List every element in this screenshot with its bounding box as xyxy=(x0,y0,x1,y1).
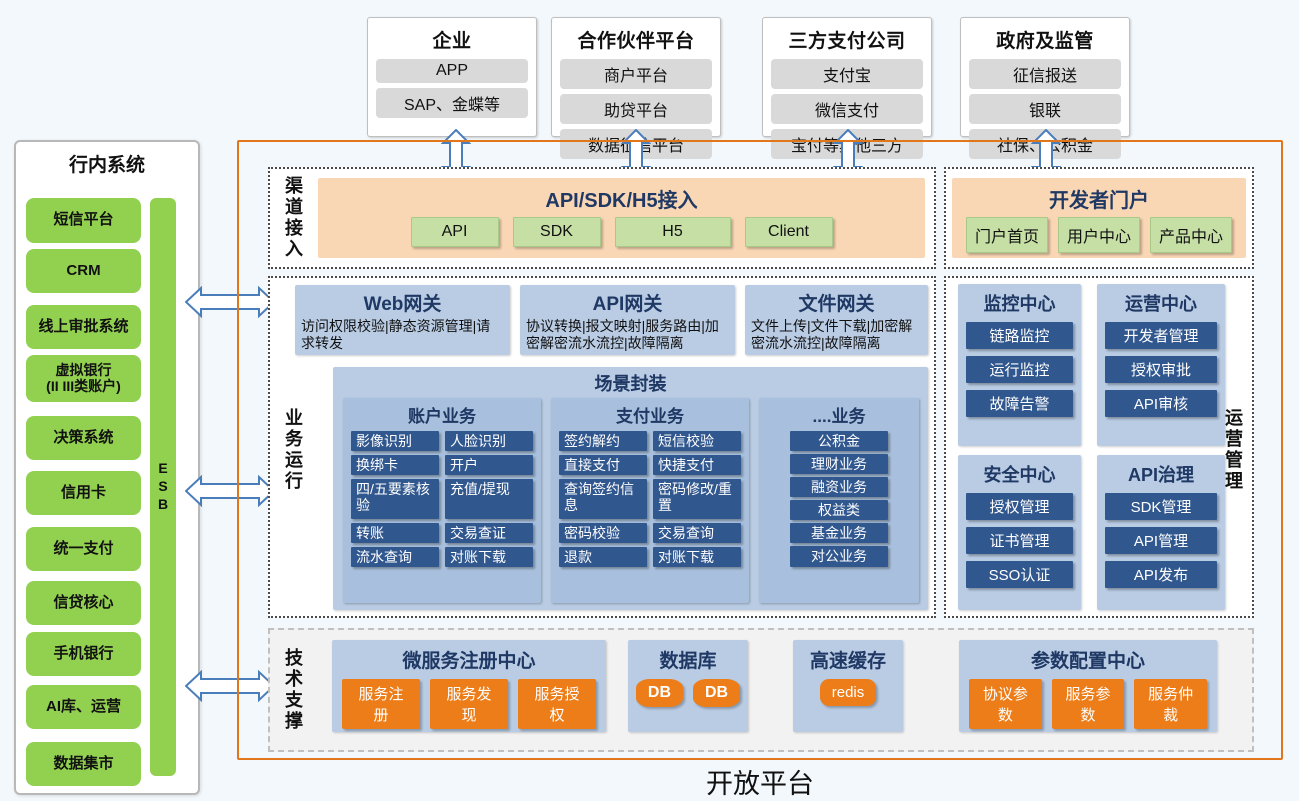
biz-item-reconciliation-download[interactable]: 对账下载 xyxy=(445,547,533,567)
biz-item-reconciliation-download[interactable]: 对账下载 xyxy=(653,547,741,567)
ops-item-api-management[interactable]: API管理 xyxy=(1105,527,1217,554)
tech-item-service-arbitration[interactable]: 服务仲裁 xyxy=(1134,679,1207,729)
bank-system-crm[interactable]: CRM xyxy=(26,249,141,293)
actor-title: 合作伙伴平台 xyxy=(577,26,694,53)
bank-system-ai-library-ops[interactable]: AI库、运营 xyxy=(26,685,141,729)
technical-support-label: 技术支撑 xyxy=(278,640,308,740)
bank-system-credit-card[interactable]: 信用卡 xyxy=(26,471,141,515)
ops-item-fault-alert[interactable]: 故障告警 xyxy=(966,390,1073,417)
tech-item-db-primary[interactable]: DB xyxy=(636,679,683,707)
tech-item-service-register[interactable]: 服务注册 xyxy=(342,679,420,729)
ops-card-items: 链路监控 运行监控 故障告警 xyxy=(966,322,1073,417)
business-column-left: 签约解约 直接支付 查询签约信息 密码校验 退款 xyxy=(559,431,647,567)
biz-item-rebind-card[interactable]: 换绑卡 xyxy=(351,455,439,475)
actor-box-enterprise[interactable]: 企业 APP SAP、金蝶等 xyxy=(367,17,537,137)
bank-system-online-approval[interactable]: 线上审批系统 xyxy=(26,305,141,349)
tech-card-database[interactable]: 数据库 DB DB xyxy=(628,640,748,732)
scene-title: 场景封装 xyxy=(333,367,928,396)
gateway-description: 协议转换|报文映射|服务路由|加密解密流水流控|故障隔离 xyxy=(526,318,729,351)
tech-card-microservice-registry[interactable]: 微服务注册中心 服务注册 服务发现 服务授权 xyxy=(332,640,606,732)
actor-item[interactable]: 商户平台 xyxy=(560,59,712,89)
actor-item[interactable]: 银联 xyxy=(969,94,1121,124)
bank-system-decision[interactable]: 决策系统 xyxy=(26,416,141,460)
business-group-title: ....业务 xyxy=(813,402,866,427)
tech-card-items: 协议参数 服务参数 服务仲裁 xyxy=(969,679,1207,729)
portal-card-title: 开发者门户 xyxy=(1049,184,1149,213)
gateway-card-file[interactable]: 文件网关 文件上传|文件下载|加密解密流水流控|故障隔离 xyxy=(745,285,928,355)
biz-item-image-recognition[interactable]: 影像识别 xyxy=(351,431,439,451)
api-sdk-h5-access-card: API/SDK/H5接入 API SDK H5 Client xyxy=(318,178,925,258)
access-item-client[interactable]: Client xyxy=(745,217,833,247)
business-group-title: 账户业务 xyxy=(408,402,476,427)
bank-system-sms-platform[interactable]: 短信平台 xyxy=(26,198,141,243)
tech-card-parameter-config-center[interactable]: 参数配置中心 协议参数 服务参数 服务仲裁 xyxy=(959,640,1217,732)
tech-item-redis[interactable]: redis xyxy=(820,679,877,706)
business-group-account: 账户业务 影像识别 换绑卡 四/五要素核验 转账 流水查询 人脸识别 开户 充值… xyxy=(343,398,541,603)
ops-card-title: 安全中心 xyxy=(984,461,1056,487)
tech-item-protocol-params[interactable]: 协议参数 xyxy=(969,679,1042,729)
actor-item[interactable]: 助贷平台 xyxy=(560,94,712,124)
biz-item-sign-unsign[interactable]: 签约解约 xyxy=(559,431,647,451)
tech-card-title: 微服务注册中心 xyxy=(402,646,535,673)
biz-item-transfer[interactable]: 转账 xyxy=(351,523,439,543)
business-column-left: 影像识别 换绑卡 四/五要素核验 转账 流水查询 xyxy=(351,431,439,567)
tech-item-service-discovery[interactable]: 服务发现 xyxy=(430,679,508,729)
bank-system-mobile-bank[interactable]: 手机银行 xyxy=(26,632,141,676)
biz-item-direct-payment[interactable]: 直接支付 xyxy=(559,455,647,475)
business-column-left: 公积金 理财业务 融资业务 权益类 基金业务 对公业务 xyxy=(790,431,888,567)
biz-item-financing[interactable]: 融资业务 xyxy=(790,477,888,497)
biz-item-topup-withdraw[interactable]: 充值/提现 xyxy=(445,479,533,519)
access-item-api[interactable]: API xyxy=(411,217,499,247)
gateway-description: 访问权限校验|静态资源管理|请求转发 xyxy=(301,318,504,351)
gateway-card-web[interactable]: Web网关 访问权限校验|静态资源管理|请求转发 xyxy=(295,285,510,355)
biz-item-query-sign-info[interactable]: 查询签约信息 xyxy=(559,479,647,519)
actor-item[interactable]: 微信支付 xyxy=(771,94,923,124)
access-card-title: API/SDK/H5接入 xyxy=(545,184,697,213)
ops-card-title: 运营中心 xyxy=(1125,290,1197,316)
esb-bus[interactable]: ESB xyxy=(150,198,176,776)
portal-item-home[interactable]: 门户首页 xyxy=(966,217,1048,253)
biz-item-rights-equity[interactable]: 权益类 xyxy=(790,500,888,520)
biz-item-transaction-query[interactable]: 交易查询 xyxy=(653,523,741,543)
actor-item[interactable]: 征信报送 xyxy=(969,59,1121,89)
actor-title: 三方支付公司 xyxy=(788,26,905,53)
business-column-right: 人脸识别 开户 充值/提现 交易查证 对账下载 xyxy=(445,431,533,567)
actor-box-partner-platform[interactable]: 合作伙伴平台 商户平台 助贷平台 数据征信平台 xyxy=(551,17,721,137)
ops-item-runtime-monitoring[interactable]: 运行监控 xyxy=(966,356,1073,383)
ops-card-security-center[interactable]: 安全中心 授权管理 证书管理 SSO认证 xyxy=(958,455,1081,610)
bank-system-virtual-bank[interactable]: 虚拟银行 (II III类账户) xyxy=(26,355,141,402)
portal-item-product-center[interactable]: 产品中心 xyxy=(1150,217,1232,253)
ops-card-title: 监控中心 xyxy=(984,290,1056,316)
biz-item-fund[interactable]: 基金业务 xyxy=(790,523,888,543)
ops-card-items: SDK管理 API管理 API发布 xyxy=(1105,493,1217,588)
tech-card-title: 高速缓存 xyxy=(810,646,886,673)
biz-item-corporate[interactable]: 对公业务 xyxy=(790,546,888,566)
biz-item-password-verify[interactable]: 密码校验 xyxy=(559,523,647,543)
bank-panel-title: 行内系统 xyxy=(16,150,198,177)
access-item-h5[interactable]: H5 xyxy=(615,217,731,247)
tech-card-title: 参数配置中心 xyxy=(1031,646,1145,673)
biz-item-wealth-management[interactable]: 理财业务 xyxy=(790,454,888,474)
actor-item[interactable]: 支付宝 xyxy=(771,59,923,89)
access-item-sdk[interactable]: SDK xyxy=(513,217,601,247)
access-items-row: API SDK H5 Client xyxy=(411,217,833,247)
ops-card-operations-center[interactable]: 运营中心 开发者管理 授权审批 API审核 xyxy=(1097,284,1225,446)
actor-item[interactable]: SAP、金蝶等 xyxy=(376,88,528,118)
portal-items-row: 门户首页 用户中心 产品中心 xyxy=(966,217,1232,253)
ops-card-items: 开发者管理 授权审批 API审核 xyxy=(1105,322,1217,417)
ops-item-api-review[interactable]: API审核 xyxy=(1105,390,1217,417)
bank-system-unified-payment[interactable]: 统一支付 xyxy=(26,527,141,571)
tech-item-service-authorization[interactable]: 服务授权 xyxy=(518,679,596,729)
business-group-columns: 影像识别 换绑卡 四/五要素核验 转账 流水查询 人脸识别 开户 充值/提现 交… xyxy=(351,431,533,567)
bank-system-data-mart[interactable]: 数据集市 xyxy=(26,742,141,786)
gateway-title: Web网关 xyxy=(364,289,442,316)
tech-card-items: redis xyxy=(820,679,877,706)
biz-item-statement-query[interactable]: 流水查询 xyxy=(351,547,439,567)
esb-label: ESB xyxy=(155,460,171,514)
business-group-columns: 签约解约 直接支付 查询签约信息 密码校验 退款 短信校验 快捷支付 密码修改/… xyxy=(559,431,741,567)
gateway-title: API网关 xyxy=(593,289,663,316)
tech-card-items: 服务注册 服务发现 服务授权 xyxy=(342,679,596,729)
ops-item-developer-management[interactable]: 开发者管理 xyxy=(1105,322,1217,349)
tech-card-items: DB DB xyxy=(636,679,740,707)
ops-item-authorization-management[interactable]: 授权管理 xyxy=(966,493,1073,520)
biz-item-quick-payment[interactable]: 快捷支付 xyxy=(653,455,741,475)
biz-item-open-account[interactable]: 开户 xyxy=(445,455,533,475)
ops-item-authorization-approval[interactable]: 授权审批 xyxy=(1105,356,1217,383)
biz-item-face-recognition[interactable]: 人脸识别 xyxy=(445,431,533,451)
portal-item-user-center[interactable]: 用户中心 xyxy=(1058,217,1140,253)
platform-footer-title: 开放平台 xyxy=(237,762,1283,801)
tech-card-cache[interactable]: 高速缓存 redis xyxy=(793,640,903,732)
biz-item-password-change-reset[interactable]: 密码修改/重置 xyxy=(653,479,741,519)
bank-system-credit-core[interactable]: 信贷核心 xyxy=(26,581,141,625)
business-column-right: 短信校验 快捷支付 密码修改/重置 交易查询 对账下载 xyxy=(653,431,741,567)
ops-item-api-publish[interactable]: API发布 xyxy=(1105,561,1217,588)
biz-item-refund[interactable]: 退款 xyxy=(559,547,647,567)
ops-item-sso-authentication[interactable]: SSO认证 xyxy=(966,561,1073,588)
developer-portal-card: 开发者门户 门户首页 用户中心 产品中心 xyxy=(952,178,1246,258)
tech-item-service-params[interactable]: 服务参数 xyxy=(1052,679,1125,729)
ops-card-api-governance[interactable]: API治理 SDK管理 API管理 API发布 xyxy=(1097,455,1225,610)
business-running-label: 业务运行 xyxy=(278,390,308,510)
actor-title: 企业 xyxy=(432,26,471,53)
gateway-card-api[interactable]: API网关 协议转换|报文映射|服务路由|加密解密流水流控|故障隔离 xyxy=(520,285,735,355)
biz-item-four-five-element-verify[interactable]: 四/五要素核验 xyxy=(351,479,439,519)
business-group-payment: 支付业务 签约解约 直接支付 查询签约信息 密码校验 退款 短信校验 快捷支付 … xyxy=(551,398,749,603)
actor-title: 政府及监管 xyxy=(996,26,1094,53)
gateway-description: 文件上传|文件下载|加密解密流水流控|故障隔离 xyxy=(751,318,922,351)
ops-card-monitoring-center[interactable]: 监控中心 链路监控 运行监控 故障告警 xyxy=(958,284,1081,446)
tech-card-title: 数据库 xyxy=(659,646,716,673)
ops-item-sdk-management[interactable]: SDK管理 xyxy=(1105,493,1217,520)
ops-item-certificate-management[interactable]: 证书管理 xyxy=(966,527,1073,554)
actor-box-government-regulator[interactable]: 政府及监管 征信报送 银联 社保、公积金 xyxy=(960,17,1130,137)
biz-item-housing-fund[interactable]: 公积金 xyxy=(790,431,888,451)
gateway-title: 文件网关 xyxy=(798,289,874,316)
tech-item-db-secondary[interactable]: DB xyxy=(693,679,740,707)
biz-item-transaction-verify[interactable]: 交易查证 xyxy=(445,523,533,543)
ops-card-title: API治理 xyxy=(1128,461,1194,487)
actor-item[interactable]: APP xyxy=(376,59,528,83)
actor-box-third-party-payment[interactable]: 三方支付公司 支付宝 微信支付 宝付等其他三方 xyxy=(762,17,932,137)
biz-item-sms-verify[interactable]: 短信校验 xyxy=(653,431,741,451)
ops-card-items: 授权管理 证书管理 SSO认证 xyxy=(966,493,1073,588)
business-group-title: 支付业务 xyxy=(616,402,684,427)
business-group-other: ....业务 公积金 理财业务 融资业务 权益类 基金业务 对公业务 xyxy=(759,398,919,603)
ops-item-link-monitoring[interactable]: 链路监控 xyxy=(966,322,1073,349)
channel-access-label: 渠道接入 xyxy=(278,172,308,264)
